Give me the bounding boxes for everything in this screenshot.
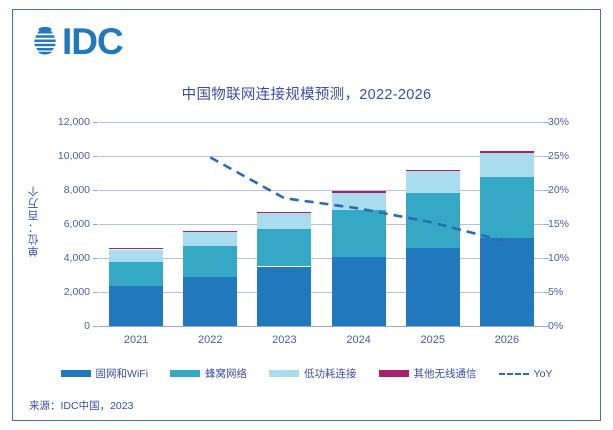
legend-color-swatch	[61, 370, 91, 377]
bar-2023[interactable]	[257, 122, 311, 326]
y2-tickmark	[544, 122, 549, 123]
bar-segment[interactable]	[406, 171, 460, 193]
bar-segment[interactable]	[257, 229, 311, 266]
y2-tickmark	[544, 156, 549, 157]
y2-tickmark	[544, 224, 549, 225]
legend-dash-marker	[499, 373, 529, 375]
legend-label: YoY	[534, 368, 553, 380]
legend-label: 固网和WiFi	[96, 366, 149, 381]
bar-segment[interactable]	[332, 257, 386, 326]
x-tick-label: 2026	[470, 334, 544, 346]
bar-2025[interactable]	[406, 122, 460, 326]
y2-tick-label: 20%	[548, 185, 569, 196]
bar-segment[interactable]	[332, 210, 386, 257]
bar-segment[interactable]	[480, 177, 534, 238]
bar-segment[interactable]	[480, 238, 534, 326]
legend-color-swatch	[379, 370, 409, 377]
legend-item[interactable]: 蜂窝网络	[170, 366, 247, 381]
bar-segment[interactable]	[332, 193, 386, 211]
bar-segment[interactable]	[183, 277, 237, 326]
bar-segment[interactable]	[109, 248, 163, 249]
bar-segment[interactable]	[183, 231, 237, 232]
source-note: 来源：IDC中国，2023	[29, 398, 133, 413]
y-tickmark	[93, 224, 98, 225]
bar-segment[interactable]	[109, 262, 163, 286]
x-tick-label: 2025	[396, 334, 470, 346]
legend-item[interactable]: 固网和WiFi	[61, 366, 149, 381]
bar-2021[interactable]	[109, 122, 163, 326]
y-tickmark	[93, 190, 98, 191]
y2-tick-label: 5%	[548, 287, 563, 298]
y-tick-label: 4,000	[64, 253, 90, 264]
legend-item[interactable]: YoY	[499, 368, 553, 380]
y2-tickmark	[544, 190, 549, 191]
y-tick-label: 6,000	[64, 219, 90, 230]
y2-tick-label: 25%	[548, 151, 569, 162]
y2-tick-label: 10%	[548, 253, 569, 264]
y-tickmark	[93, 292, 98, 293]
x-tick-label: 2022	[173, 334, 247, 346]
bar-segment[interactable]	[480, 151, 534, 152]
bar-segment[interactable]	[183, 232, 237, 246]
bar-segment[interactable]	[109, 250, 163, 263]
y-tick-label: 2,000	[64, 287, 90, 298]
legend-label: 低功耗连接	[304, 366, 357, 381]
y2-tick-label: 15%	[548, 219, 569, 230]
bar-segment[interactable]	[406, 193, 460, 247]
x-tick-label: 2023	[247, 334, 321, 346]
legend-color-swatch	[269, 370, 299, 377]
bar-segment[interactable]	[406, 248, 460, 326]
slide-canvas: IDC 中国物联网连接规模预测，2022-2026 单位：百万个 12,000 …	[0, 0, 613, 430]
bar-segment[interactable]	[109, 286, 163, 326]
legend-item[interactable]: 低功耗连接	[269, 366, 357, 381]
legend-color-swatch	[170, 370, 200, 377]
chart-legend: 固网和WiFi蜂窝网络低功耗连接其他无线通信YoY	[0, 366, 613, 381]
gridline-6000	[99, 224, 544, 225]
bar-segment[interactable]	[480, 153, 534, 178]
gridline-12000	[99, 122, 544, 123]
y2-tickmark	[544, 292, 549, 293]
x-tick-label: 2024	[322, 334, 396, 346]
gridline-4000	[99, 258, 544, 259]
y-tickmark	[93, 156, 98, 157]
y-tickmark	[93, 326, 98, 327]
legend-item[interactable]: 其他无线通信	[379, 366, 477, 381]
x-axis-line	[99, 326, 544, 327]
y2-tickmark	[544, 326, 549, 327]
legend-label: 蜂窝网络	[205, 366, 247, 381]
y2-tickmark	[544, 258, 549, 259]
gridline-2000	[99, 292, 544, 293]
bar-2026[interactable]	[480, 122, 534, 326]
y-tick-label: 12,000	[58, 117, 90, 128]
y2-tick-label: 30%	[548, 117, 569, 128]
bar-2022[interactable]	[183, 122, 237, 326]
y-tickmark	[93, 258, 98, 259]
bar-segment[interactable]	[183, 246, 237, 277]
gridline-8000	[99, 190, 544, 191]
legend-label: 其他无线通信	[414, 366, 477, 381]
y2-tick-label: 0%	[548, 321, 563, 332]
y-tickmark	[93, 122, 98, 123]
y-tick-label: 8,000	[64, 185, 90, 196]
y-tick-label: 10,000	[58, 151, 90, 162]
bar-segment[interactable]	[257, 212, 311, 213]
bar-segment[interactable]	[406, 170, 460, 171]
gridline-10000	[99, 156, 544, 157]
bar-segment[interactable]	[257, 267, 311, 327]
bar-segment[interactable]	[257, 213, 311, 229]
x-tick-label: 2021	[99, 334, 173, 346]
y-tick-label: 0	[84, 321, 90, 332]
bar-segment[interactable]	[332, 191, 386, 192]
bar-2024[interactable]	[332, 122, 386, 326]
